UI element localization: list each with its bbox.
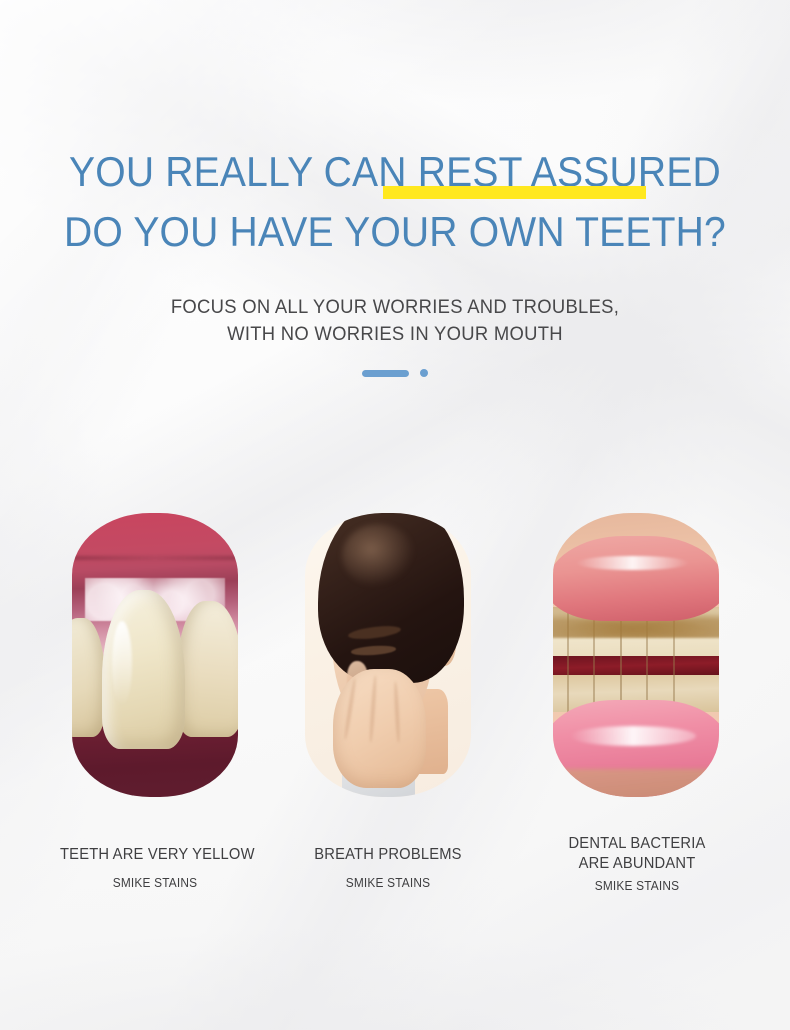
headline-block: YOU REALLY CAN REST ASSURED DO YOU HAVE … xyxy=(0,142,790,262)
hair-sheen xyxy=(342,524,415,586)
lower-lip-shine xyxy=(570,726,696,746)
upper-lip-shine xyxy=(576,556,689,570)
yellow-teeth-gums-closeup-photo xyxy=(72,513,238,797)
tooth-right xyxy=(177,601,238,737)
caption-subtitle: SMIKE STAINS xyxy=(543,877,731,895)
caption-title-line-2: ARE ABUNDANT xyxy=(543,854,731,874)
caption-breath-problems: BREATH PROBLEMS SMIKE STAINS xyxy=(298,845,478,892)
caption-subtitle: SMIKE STAINS xyxy=(303,874,474,892)
tile-breath-problems[interactable] xyxy=(305,513,471,797)
pagination-indicator[interactable] xyxy=(0,369,790,377)
gumline-shadow xyxy=(72,556,238,560)
caption-subtitle: SMIKE STAINS xyxy=(60,874,250,892)
caption-title: BREATH PROBLEMS xyxy=(303,845,474,865)
chin xyxy=(553,769,719,797)
promo-page: YOU REALLY CAN REST ASSURED DO YOU HAVE … xyxy=(0,0,790,1030)
tile-dental-bacteria[interactable] xyxy=(553,513,719,797)
tile-row xyxy=(0,513,790,803)
caption-yellow-teeth: TEETH ARE VERY YELLOW SMIKE STAINS xyxy=(55,845,255,892)
tooth-highlight xyxy=(112,621,132,706)
woman-covering-mouth-photo xyxy=(305,513,471,797)
subtitle-line-1: FOCUS ON ALL YOUR WORRIES AND TROUBLES, xyxy=(12,294,778,321)
headline-line-2: DO YOU HAVE YOUR OWN TEETH? xyxy=(28,202,763,262)
pagination-dot-active[interactable] xyxy=(362,370,409,377)
caption-dental-bacteria: DENTAL BACTERIA ARE ABUNDANT SMIKE STAIN… xyxy=(538,834,736,895)
tile-yellow-teeth[interactable] xyxy=(72,513,238,797)
pagination-dot-2[interactable] xyxy=(420,369,428,377)
stained-teeth-lips-closeup-photo xyxy=(553,513,719,797)
caption-title: TEETH ARE VERY YELLOW xyxy=(60,845,250,865)
tooth-left xyxy=(72,618,105,737)
subtitle-line-2: WITH NO WORRIES IN YOUR MOUTH xyxy=(12,321,778,348)
upper-lip xyxy=(553,536,719,621)
subtitle-block: FOCUS ON ALL YOUR WORRIES AND TROUBLES, … xyxy=(12,294,778,348)
caption-title-line-1: DENTAL BACTERIA xyxy=(543,834,731,854)
headline-highlight-bar xyxy=(383,186,646,199)
